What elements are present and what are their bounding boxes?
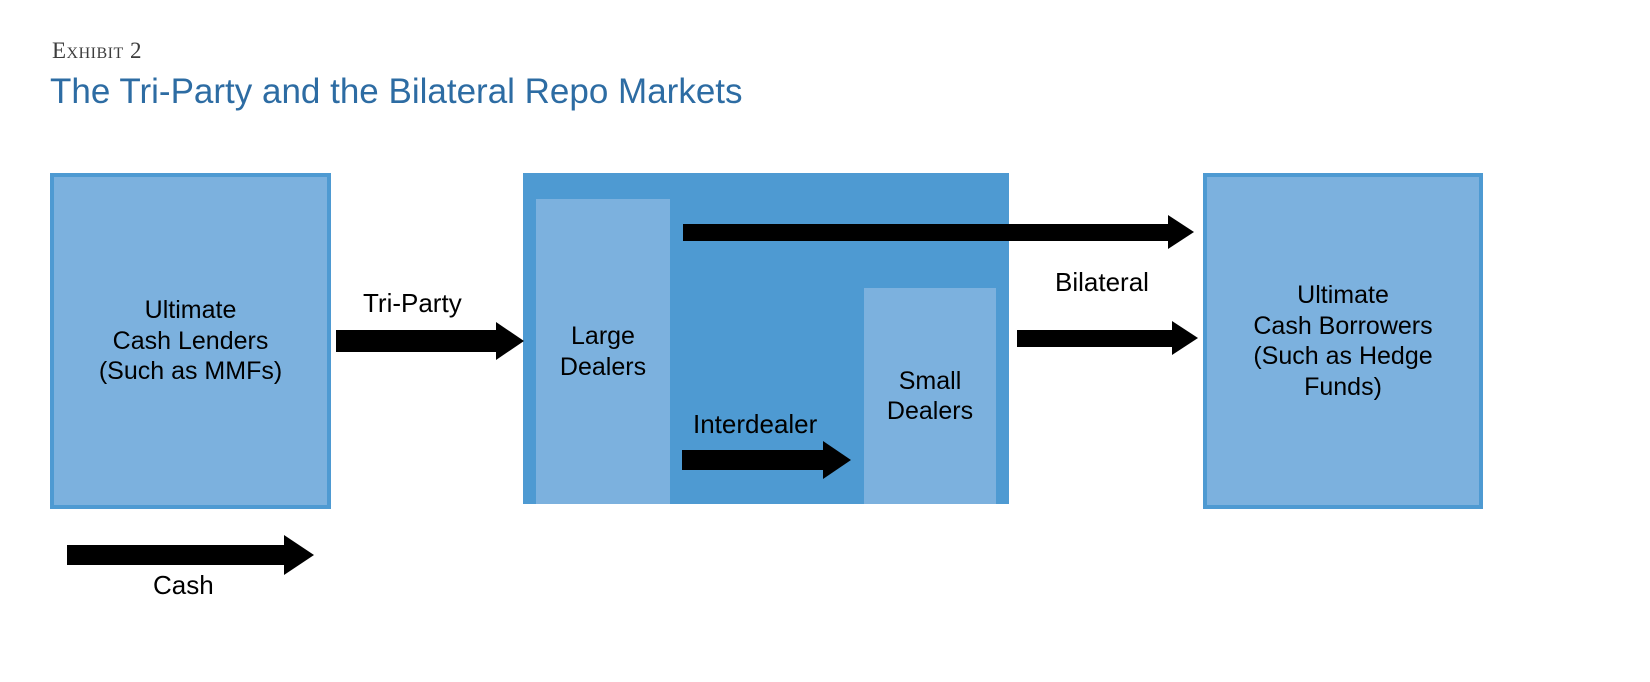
- node-small-dealers-line-1: Small: [887, 366, 973, 397]
- exhibit-number-label: Exhibit 2: [52, 38, 142, 64]
- node-large-dealers: Large Dealers: [536, 199, 670, 504]
- node-borrowers-line-4: Funds): [1207, 372, 1479, 403]
- node-large-dealers-line-1: Large: [560, 321, 646, 352]
- page-title: The Tri-Party and the Bilateral Repo Mar…: [50, 72, 743, 112]
- node-borrowers-line-3: (Such as Hedge: [1207, 341, 1479, 372]
- edge-label-interdealer: Interdealer: [693, 409, 817, 440]
- arrow-cash-legend-head: [284, 535, 314, 575]
- arrow-tri-party-head: [496, 322, 524, 360]
- node-large-dealers-line-2: Dealers: [560, 352, 646, 383]
- node-lenders-line-1: Ultimate: [54, 295, 327, 326]
- edge-label-tri-party: Tri-Party: [363, 288, 462, 319]
- arrow-interdealer-head: [823, 441, 851, 479]
- edge-label-bilateral: Bilateral: [1055, 267, 1149, 298]
- arrow-bilateral-top-shaft: [683, 224, 1170, 241]
- node-small-dealers-line-2: Dealers: [887, 396, 973, 427]
- arrow-interdealer-shaft: [682, 450, 825, 470]
- node-borrowers-line-2: Cash Borrowers: [1207, 311, 1479, 342]
- node-ultimate-cash-borrowers: Ultimate Cash Borrowers (Such as Hedge F…: [1203, 173, 1483, 509]
- node-ultimate-cash-lenders: Ultimate Cash Lenders (Such as MMFs): [50, 173, 331, 509]
- arrow-bilateral-top-head: [1168, 215, 1194, 249]
- node-lenders-line-3: (Such as MMFs): [54, 356, 327, 387]
- node-lenders-line-2: Cash Lenders: [54, 326, 327, 357]
- arrow-bilateral-bottom-head: [1172, 321, 1198, 355]
- arrow-bilateral-bottom-shaft: [1017, 330, 1174, 347]
- node-borrowers-line-1: Ultimate: [1207, 280, 1479, 311]
- arrow-tri-party-shaft: [336, 330, 498, 352]
- node-small-dealers: Small Dealers: [864, 288, 996, 504]
- arrow-cash-legend-shaft: [67, 545, 286, 565]
- legend-label-cash: Cash: [153, 570, 214, 601]
- exhibit-diagram-canvas: Exhibit 2 The Tri-Party and the Bilatera…: [0, 0, 1650, 682]
